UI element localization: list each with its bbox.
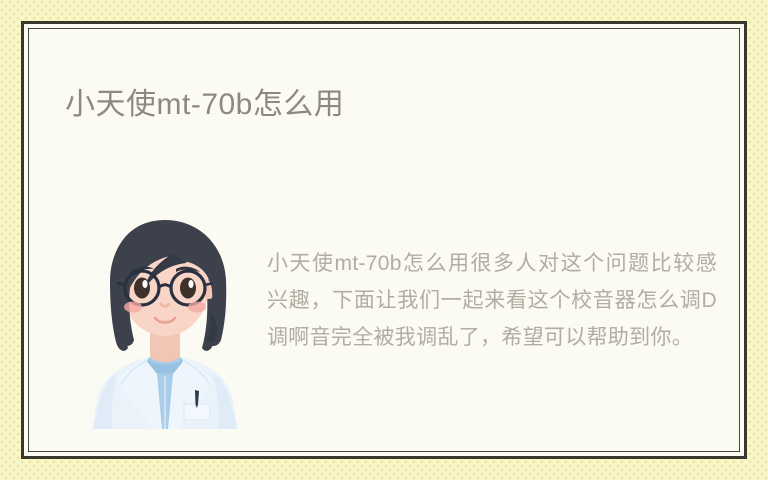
article-card: 小天使mt-70b怎么用: [28, 28, 740, 452]
article-card-frame: 小天使mt-70b怎么用: [21, 21, 747, 459]
female-doctor-avatar-illustration: [90, 214, 240, 429]
article-paragraph: 小天使mt-70b怎么用很多人对这个问题比较感兴趣，下面让我们一起来看这个校音器…: [267, 245, 717, 356]
article-body: 小天使mt-70b怎么用很多人对这个问题比较感兴趣，下面让我们一起来看这个校音器…: [29, 194, 739, 444]
avatar: [90, 214, 240, 429]
page-title: 小天使mt-70b怎么用: [65, 87, 344, 123]
page-background: 小天使mt-70b怎么用: [0, 0, 768, 480]
